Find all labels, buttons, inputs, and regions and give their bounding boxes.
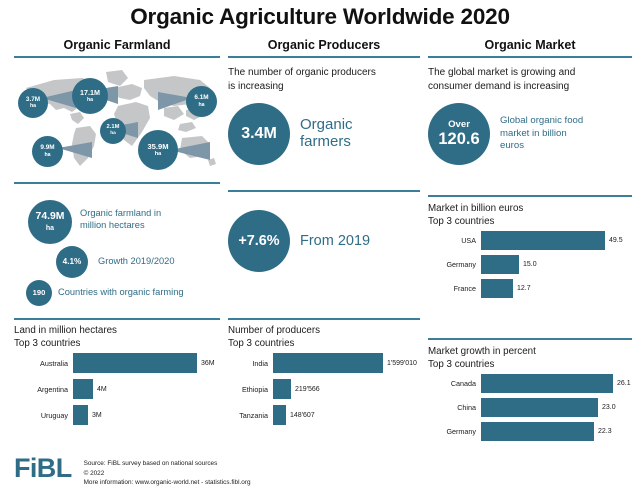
map-bubble-value: 35.9M bbox=[147, 143, 168, 151]
bar-value: 49.5 bbox=[605, 237, 623, 244]
bar-germany-market bbox=[481, 255, 519, 274]
divider-producers-growth bbox=[228, 190, 420, 192]
infographic-page: Organic Agriculture Worldwide 2020 Organ… bbox=[0, 0, 640, 491]
market-lead-text: The global market is growing and consume… bbox=[428, 66, 632, 93]
stat-circle-market-value: Over 120.6 bbox=[428, 103, 490, 165]
page-title: Organic Agriculture Worldwide 2020 bbox=[0, 4, 640, 30]
bar-value: 148'607 bbox=[286, 412, 315, 419]
map-bubble-unit: ha bbox=[110, 132, 116, 137]
table-row: India 1'599'010 bbox=[228, 353, 428, 373]
stat-circle-countries: 190 bbox=[26, 280, 52, 306]
bar-label: Australia bbox=[14, 359, 73, 368]
chart-market-growth-top3: Market growth in percent Top 3 countries… bbox=[428, 338, 634, 443]
bar-india bbox=[273, 353, 383, 373]
map-bubble-unit: ha bbox=[155, 152, 162, 158]
map-bubble-north-america: 3.7M ha bbox=[18, 88, 48, 118]
stat-value: 3.4M bbox=[241, 126, 277, 142]
table-row: France 12.7 bbox=[428, 279, 634, 298]
producers-growth-block: +7.6% From 2019 bbox=[228, 190, 420, 272]
chart-title-land: Land in million hectares Top 3 countries bbox=[14, 325, 224, 350]
map-bubble-africa: 2.1M ha bbox=[100, 118, 126, 144]
bar-value: 36M bbox=[197, 360, 215, 367]
fibl-logo: FiBL bbox=[14, 455, 84, 482]
stat-value: 120.6 bbox=[438, 131, 479, 148]
bar-uruguay bbox=[73, 405, 88, 425]
bar-usa bbox=[481, 231, 605, 250]
stat-label-producer-growth: From 2019 bbox=[300, 233, 370, 249]
chart-title-market: Market in billion euros Top 3 countries bbox=[428, 203, 634, 228]
map-bubble-europe: 17.1M ha bbox=[72, 78, 108, 114]
bar-china bbox=[481, 398, 598, 417]
bar-label: Ethiopia bbox=[228, 385, 273, 394]
producers-headline: 3.4M Organic farmers bbox=[228, 103, 420, 165]
bar-label: Uruguay bbox=[14, 411, 73, 420]
stat-label-market-value: Global organic food market in billion eu… bbox=[500, 115, 583, 153]
bar-argentina bbox=[73, 379, 93, 399]
world-map: 3.7M ha 17.1M ha 6.1M ha 2.1M ha 9.9M ha… bbox=[14, 62, 220, 174]
bars-producers: India 1'599'010 Ethiopia 219'566 Tanzani… bbox=[228, 353, 428, 425]
chart-producers-top3: Number of producers Top 3 countries Indi… bbox=[228, 318, 428, 427]
producers-lead-text: The number of organic producers is incre… bbox=[228, 66, 420, 93]
section-heading-market: Organic Market bbox=[428, 38, 632, 56]
stat-circle-farmland-area: 74.9M ha bbox=[28, 200, 72, 244]
map-bubble-unit: ha bbox=[87, 98, 93, 103]
bar-value: 26.1 bbox=[613, 380, 631, 387]
stat-label-countries: Countries with organic farming bbox=[58, 287, 228, 299]
source-line-3: More information: www.organic-world.net … bbox=[84, 478, 251, 488]
bar-label: China bbox=[428, 403, 481, 412]
stat-value: 190 bbox=[33, 289, 46, 297]
bar-label: USA bbox=[428, 236, 481, 245]
table-row: Canada 26.1 bbox=[428, 374, 634, 393]
bars-market: USA 49.5 Germany 15.0 France 12.7 bbox=[428, 231, 634, 298]
stat-circle-producer-growth: +7.6% bbox=[228, 210, 290, 272]
divider-land-chart bbox=[14, 318, 220, 320]
table-row: Germany 22.3 bbox=[428, 422, 634, 441]
divider-market-chart bbox=[428, 195, 632, 197]
stat-value: 4.1% bbox=[63, 258, 82, 266]
farmland-stats: 74.9M ha Organic farmland in million hec… bbox=[14, 194, 220, 290]
bar-value: 12.7 bbox=[513, 285, 531, 292]
bar-france bbox=[481, 279, 513, 298]
stat-over-word: Over bbox=[448, 120, 470, 130]
map-bubble-asia: 6.1M ha bbox=[186, 86, 217, 117]
bar-value: 15.0 bbox=[519, 261, 537, 268]
bar-label: Germany bbox=[428, 260, 481, 269]
divider-producers-chart bbox=[228, 318, 420, 320]
stat-unit: ha bbox=[46, 225, 54, 232]
bar-label: France bbox=[428, 284, 481, 293]
bar-label: India bbox=[228, 359, 273, 368]
bar-label: Canada bbox=[428, 379, 481, 388]
section-heading-producers: Organic Producers bbox=[228, 38, 420, 56]
source-line-2: © 2022 bbox=[84, 469, 251, 479]
bars-land: Australia 36M Argentina 4M Uruguay 3M bbox=[14, 353, 224, 425]
map-bubble-oceania: 35.9M ha bbox=[138, 130, 178, 170]
table-row: USA 49.5 bbox=[428, 231, 634, 250]
bar-tanzania bbox=[273, 405, 286, 425]
chart-title-market-growth: Market growth in percent Top 3 countries bbox=[428, 346, 634, 371]
stat-circle-growth: 4.1% bbox=[56, 246, 88, 278]
chart-title-producers: Number of producers Top 3 countries bbox=[228, 325, 428, 350]
map-bubble-value: 9.9M bbox=[40, 145, 54, 151]
bar-germany-growth bbox=[481, 422, 594, 441]
chart-land-top3: Land in million hectares Top 3 countries… bbox=[14, 318, 224, 427]
divider-market-growth-chart bbox=[428, 338, 632, 340]
bar-value: 3M bbox=[88, 412, 102, 419]
map-bubble-value: 6.1M bbox=[194, 95, 208, 101]
column-organic-farmland: Organic Farmland bbox=[14, 38, 220, 290]
table-row: Uruguay 3M bbox=[14, 405, 224, 425]
market-headline: Over 120.6 Global organic food market in… bbox=[428, 103, 632, 165]
bar-value: 4M bbox=[93, 386, 107, 393]
table-row: Argentina 4M bbox=[14, 379, 224, 399]
chart-market-top3: Market in billion euros Top 3 countries … bbox=[428, 195, 634, 300]
stat-value: 74.9M bbox=[36, 212, 65, 222]
stat-label-growth: Growth 2019/2020 bbox=[98, 256, 228, 268]
table-row: Germany 15.0 bbox=[428, 255, 634, 274]
bar-value: 23.0 bbox=[598, 404, 616, 411]
source-note: Source: FiBL survey based on national so… bbox=[84, 455, 251, 488]
stat-value: +7.6% bbox=[238, 234, 279, 248]
table-row: Tanzania 148'607 bbox=[228, 405, 428, 425]
source-line-1: Source: FiBL survey based on national so… bbox=[84, 459, 251, 469]
bar-value: 219'566 bbox=[291, 386, 320, 393]
divider-farmland-stats bbox=[14, 182, 220, 184]
table-row: Australia 36M bbox=[14, 353, 224, 373]
column-organic-producers: Organic Producers The number of organic … bbox=[228, 38, 420, 165]
bars-market-growth: Canada 26.1 China 23.0 Germany 22.3 bbox=[428, 374, 634, 441]
divider-farmland bbox=[14, 56, 220, 58]
bar-australia bbox=[73, 353, 197, 373]
stat-label-farmland-area: Organic farmland in million hectares bbox=[80, 208, 210, 231]
bar-value: 22.3 bbox=[594, 428, 612, 435]
map-bubble-unit: ha bbox=[44, 153, 50, 158]
bar-label: Germany bbox=[428, 427, 481, 436]
stat-circle-organic-farmers: 3.4M bbox=[228, 103, 290, 165]
bar-label: Argentina bbox=[14, 385, 73, 394]
column-organic-market: Organic Market The global market is grow… bbox=[428, 38, 632, 165]
map-bubble-unit: ha bbox=[198, 103, 204, 108]
stat-label-organic-farmers: Organic farmers bbox=[300, 117, 353, 151]
bar-canada bbox=[481, 374, 613, 393]
table-row: China 23.0 bbox=[428, 398, 634, 417]
map-bubble-value: 17.1M bbox=[80, 89, 100, 96]
footer: FiBL Source: FiBL survey based on nation… bbox=[14, 455, 634, 488]
divider-market bbox=[428, 56, 632, 58]
bar-label: Tanzania bbox=[228, 411, 273, 420]
divider-producers bbox=[228, 56, 420, 58]
section-heading-farmland: Organic Farmland bbox=[14, 38, 220, 56]
bar-value: 1'599'010 bbox=[383, 360, 417, 367]
map-bubble-unit: ha bbox=[30, 104, 36, 109]
bar-ethiopia bbox=[273, 379, 291, 399]
table-row: Ethiopia 219'566 bbox=[228, 379, 428, 399]
map-bubble-latin-america: 9.9M ha bbox=[32, 136, 63, 167]
